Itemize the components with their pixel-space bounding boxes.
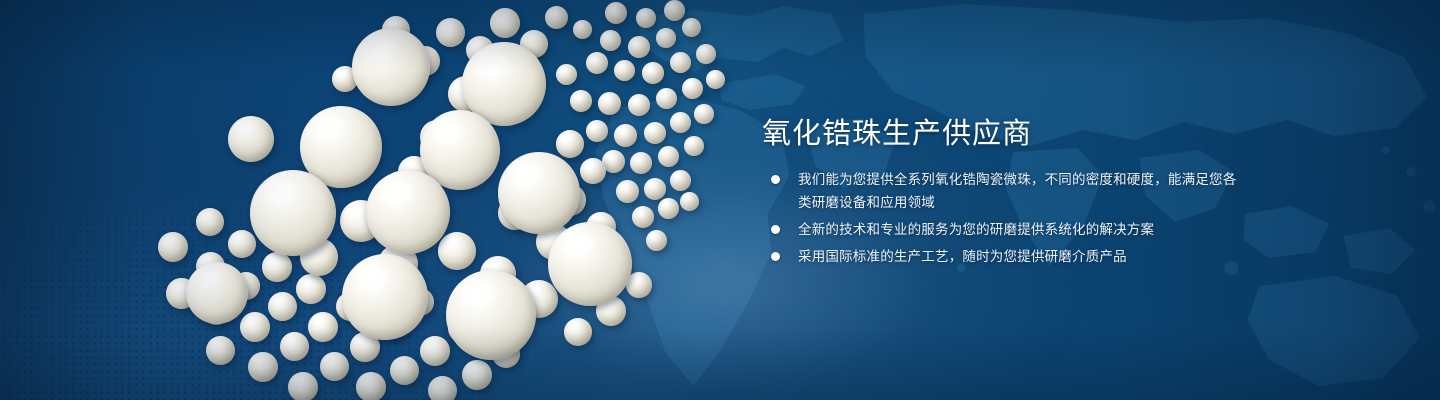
list-item-label: 采用国际标准的生产工艺，随时为您提供研磨介质产品 [798, 245, 1240, 268]
list-item: 采用国际标准的生产工艺，随时为您提供研磨介质产品 [770, 245, 1240, 268]
list-item: 全新的技术和专业的服务为您的研磨提供系统化的解决方案 [770, 218, 1240, 241]
bullet-dot-icon [771, 252, 780, 261]
bullet-dot-icon [771, 225, 780, 234]
page-title: 氧化锆珠生产供应商 [762, 110, 1032, 152]
list-item-label: 我们能为您提供全系列氧化锆陶瓷微珠，不同的密度和硬度，能满足您各类研磨设备和应用… [798, 168, 1240, 214]
list-item-label: 全新的技术和专业的服务为您的研磨提供系统化的解决方案 [798, 218, 1240, 241]
bullet-dot-icon [771, 175, 780, 184]
feature-list: 我们能为您提供全系列氧化锆陶瓷微珠，不同的密度和硬度，能满足您各类研磨设备和应用… [770, 168, 1240, 268]
banner-content: 氧化锆珠生产供应商 我们能为您提供全系列氧化锆陶瓷微珠，不同的密度和硬度，能满足… [762, 0, 1402, 400]
hero-banner: 氧化锆珠生产供应商 我们能为您提供全系列氧化锆陶瓷微珠，不同的密度和硬度，能满足… [0, 0, 1440, 400]
list-item: 我们能为您提供全系列氧化锆陶瓷微珠，不同的密度和硬度，能满足您各类研磨设备和应用… [770, 168, 1240, 214]
